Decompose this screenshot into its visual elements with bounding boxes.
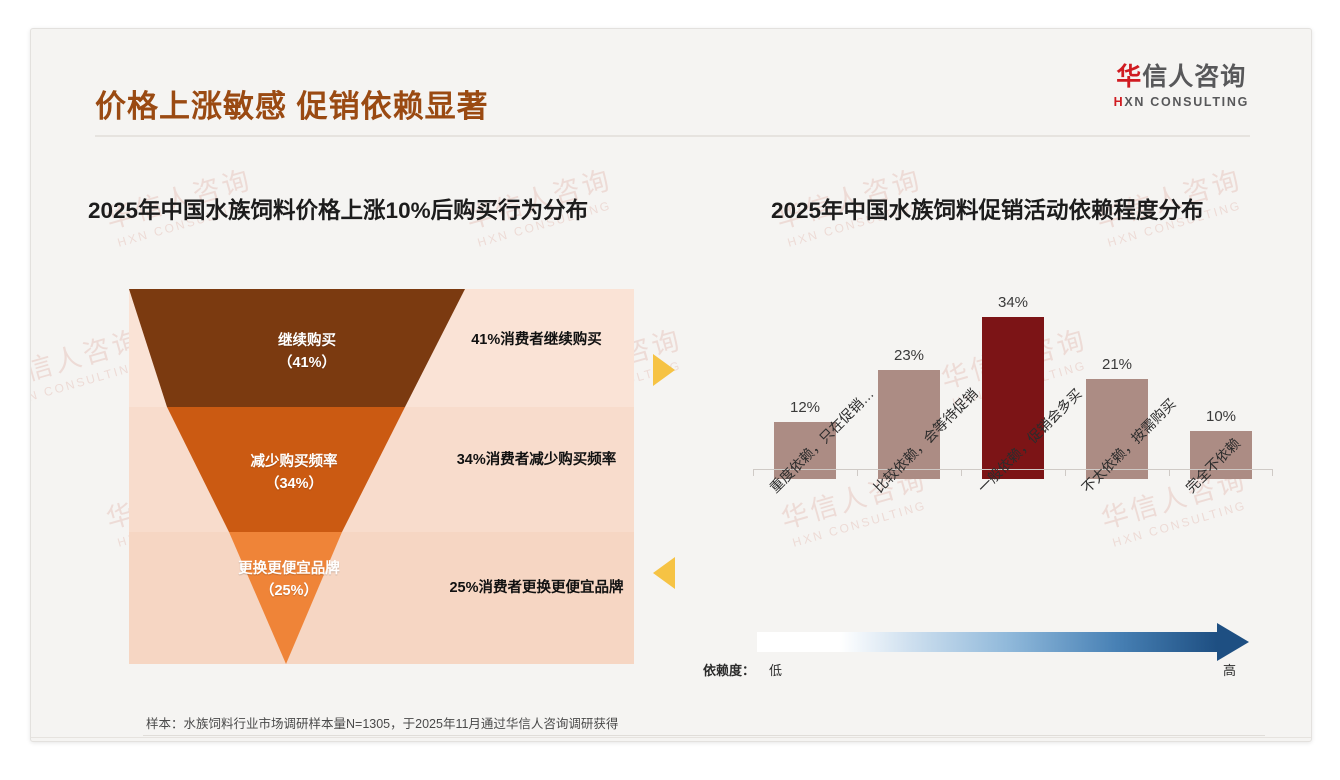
x-axis-label-cell: 不太依赖，按需购买 [1065,481,1169,591]
note-divider [143,735,1265,736]
page-title: 价格上涨敏感 促销依赖显著 [95,81,489,126]
bar-value-label: 23% [894,347,924,364]
funnel-chart: 继续购买（41%） 减少购买频率（34%） 更换更便宜品牌（25%） 41%消费… [129,289,634,664]
funnel-label-line: （41%） [157,353,457,375]
slide-root: 华信人咨询HXN CONSULTING华信人咨询HXN CONSULTING华信… [0,0,1340,780]
funnel-label-line: 更换更便宜品牌 [184,559,394,581]
gradient-arrow-icon [1217,623,1249,661]
funnel-note-3: 25%消费者更换更便宜品牌 [444,577,629,599]
triangle-right-icon [653,354,675,386]
funnel-label-line: （34%） [169,474,419,496]
funnel-label-1: 继续购买（41%） [157,331,457,375]
right-section-title: 2025年中国水族饲料促销活动依赖程度分布 [771,193,1204,225]
funnel-label-3: 更换更便宜品牌（25%） [184,559,394,603]
funnel-label-line: 继续购买 [157,331,457,353]
logo-chinese: 华信人咨询 [1114,65,1249,90]
triangle-left-icon [653,557,675,589]
x-axis-label-cell: 比较依赖，会等待促销 [857,481,961,591]
logo-english-accent: H [1114,95,1125,109]
scale-high-label: 高 [1223,660,1236,679]
bar-value-label: 10% [1206,408,1236,425]
funnel-note-1: 41%消费者继续购买 [444,329,629,351]
x-axis-tick-end [1272,470,1273,476]
title-divider [95,135,1250,137]
slide-card: 华信人咨询HXN CONSULTING华信人咨询HXN CONSULTING华信… [30,28,1312,742]
logo-english-rest: XN CONSULTING [1124,95,1249,109]
funnel-label-line: （25%） [184,581,394,603]
funnel-label-2: 减少购买频率（34%） [169,452,419,496]
funnel-note-2: 34%消费者减少购买频率 [444,449,629,471]
logo-english: HXN CONSULTING [1114,96,1249,109]
dependency-gradient-bar [757,632,1217,652]
x-axis-label-cell: 完全不依赖 [1169,481,1273,591]
funnel-label-line: 减少购买频率 [169,452,419,474]
scale-name-label: 依赖度： [703,660,755,679]
logo-chinese-accent: 华 [1116,63,1142,91]
footer-divider [31,737,1311,738]
bar-value-label: 21% [1102,356,1132,373]
logo-chinese-rest: 信人咨询 [1142,63,1246,91]
x-axis-label-cell: 重度依赖，只在促销… [753,481,857,591]
bar-value-label: 12% [790,399,820,416]
scale-low-label: 低 [769,660,782,679]
bar-value-label: 34% [998,294,1028,311]
x-axis-labels: 重度依赖，只在促销…比较依赖，会等待促销一般依赖，促销会多买不太依赖，按需购买完… [753,481,1273,591]
x-axis-label-cell: 一般依赖，促销会多买 [961,481,1065,591]
brand-logo: 华信人咨询 HXN CONSULTING [1114,65,1249,109]
left-section-title: 2025年中国水族饲料价格上涨10%后购买行为分布 [88,193,588,225]
sample-note: 样本：水族饲料行业市场调研样本量N=1305，于2025年11月通过华信人咨询调… [146,713,618,732]
